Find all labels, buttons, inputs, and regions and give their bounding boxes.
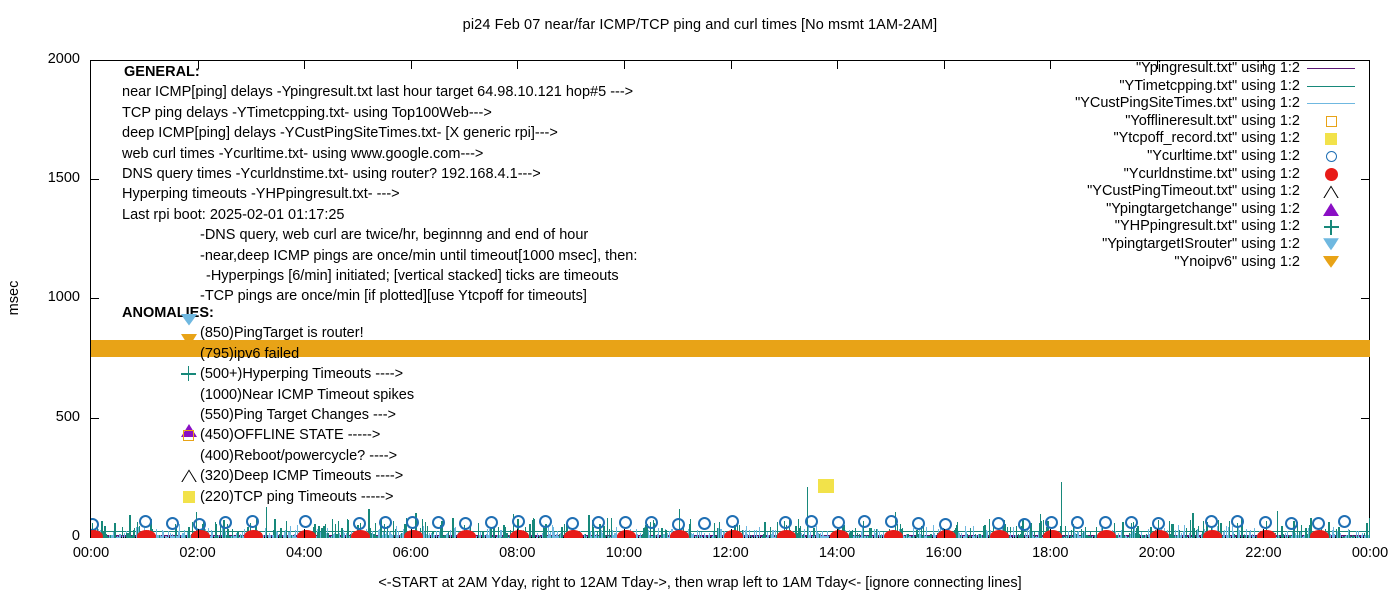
curldnstime-point [351, 530, 370, 538]
x-tick-mark-6-top [731, 60, 732, 69]
anomaly-row-1: (795)ipv6 failed [122, 344, 414, 364]
tcpping-tick [375, 523, 376, 538]
legend-row-11: "Ynoipv6" using 1:2 [960, 254, 1362, 272]
curltime-point [406, 516, 419, 529]
anomaly-row-6: (400)Reboot/powercycle? ----> [122, 446, 414, 466]
curldnstime-point [830, 530, 849, 538]
tcpping-tick [1137, 526, 1138, 538]
tcpping-spike-8 [807, 487, 808, 538]
tcpping-tick [534, 519, 535, 538]
curldnstime-point [617, 530, 636, 538]
square-open-orange-icon [1300, 116, 1362, 127]
anomaly-row-4: (550)Ping Target Changes ---> [122, 405, 414, 425]
curldnstime-point [670, 530, 689, 538]
plus-teal-icon [180, 365, 198, 383]
line-lightblue-icon [1300, 103, 1362, 104]
tcpping-tick [286, 521, 287, 538]
legend-row-5: "Ycurltime.txt" using 1:2 [960, 148, 1362, 166]
tcpping-tick [714, 523, 715, 538]
tcpping-tick [985, 525, 986, 538]
curltime-point [592, 516, 605, 529]
curltime-point [1071, 516, 1084, 529]
triangle-open-black-icon [1300, 185, 1362, 198]
tcpping-tick [764, 522, 765, 538]
page-title: pi24 Feb 07 near/far ICMP/TCP ping and c… [0, 17, 1400, 33]
x-tick-0000-0: 00:00 [51, 545, 131, 561]
curldnstime-point [777, 530, 796, 538]
anomaly-row-3: (1000)Near ICMP Timeout spikes [122, 385, 414, 405]
square-open-orange-icon [180, 427, 198, 445]
anomaly-label-4: (550)Ping Target Changes ---> [200, 407, 396, 423]
triangle-open-black-icon [180, 467, 198, 485]
curltime-point [193, 518, 206, 531]
tcpping-tick [335, 524, 336, 538]
tcpping-tick [593, 527, 594, 538]
curltime-point [1259, 516, 1272, 529]
tcpping-tick [1305, 528, 1306, 538]
curldnstime-point [137, 530, 156, 538]
general-line-0: near ICMP[ping] delays -Ypingresult.txt … [122, 82, 637, 102]
general-note-0: -DNS query, web curl are twice/hr, begin… [122, 225, 637, 245]
x-tick-2200-11: 22:00 [1223, 545, 1303, 561]
y-tick-0: 0 [16, 528, 80, 544]
x-axis-caption: <-START at 2AM Yday, right to 12AM Tday-… [0, 575, 1400, 591]
curltime-point [1338, 515, 1351, 528]
curldnstime-point [1097, 530, 1116, 538]
tcpping-tick [338, 521, 339, 538]
curltime-point [698, 517, 711, 530]
tcpping-tick [478, 523, 479, 538]
legend-label-4: "Ytcpoff_record.txt" using 1:2 [1113, 130, 1300, 148]
tcpping-tick [957, 522, 958, 538]
curltime-point [166, 517, 179, 530]
y-axis-tick-labels: 2000 1500 1000 500 0 [8, 60, 80, 538]
y-tick-500: 500 [16, 409, 80, 425]
tcpping-tick [1122, 522, 1123, 538]
x-tick-mark-11 [1263, 529, 1264, 538]
tcpping-spike-6 [588, 515, 589, 538]
curltime-point [485, 516, 498, 529]
curltime-point [645, 516, 658, 529]
tcpping-tick [661, 528, 662, 538]
tcpping-tick [603, 526, 604, 538]
anomalies-annotation-block: ANOMALIES: (850)PingTarget is router! (7… [122, 303, 414, 507]
tcpping-tick [1190, 520, 1191, 538]
x-tick-mark-10 [1157, 529, 1158, 538]
curltime-point [779, 516, 792, 529]
tcpping-tick [799, 528, 800, 538]
tcpping-tick [341, 528, 342, 538]
x-tick-mark-8 [944, 529, 945, 538]
tcpping-tick [1186, 528, 1187, 538]
circle-filled-red-icon [1300, 168, 1362, 181]
tcpping-tick [348, 520, 349, 538]
anomaly-row-5: (450)OFFLINE STATE -----> [122, 425, 414, 445]
tcpping-tick [719, 522, 720, 538]
curltime-point [1125, 516, 1138, 529]
curltime-point [379, 516, 392, 529]
x-tick-mark-6 [731, 529, 732, 538]
x-tick-0000-12: 00:00 [1330, 545, 1400, 561]
tcpping-tick [134, 528, 135, 538]
curldnstime-point [937, 530, 956, 538]
curltime-point [139, 515, 152, 528]
tcpping-tick [1173, 524, 1174, 538]
down-triangle-lightblue-icon [1300, 238, 1362, 251]
x-tick-mark-9 [1050, 529, 1051, 538]
curldnstime-point [244, 530, 263, 538]
legend-label-7: "YCustPingTimeout.txt" using 1:2 [1087, 183, 1300, 201]
tcpping-tick [1281, 526, 1282, 538]
legend-label-5: "Ycurltime.txt" using 1:2 [1147, 148, 1300, 166]
legend-label-10: "YpingtargetISrouter" using 1:2 [1102, 236, 1300, 254]
tcpping-tick [607, 518, 608, 538]
curldnstime-point [1310, 530, 1329, 538]
anomaly-row-8: (220)TCP ping Timeouts -----> [122, 487, 414, 507]
legend-row-10: "YpingtargetISrouter" using 1:2 [960, 236, 1362, 254]
anomaly-label-8: (220)TCP ping Timeouts -----> [200, 489, 394, 505]
tcpping-tick [690, 519, 691, 538]
curltime-point [1285, 517, 1298, 530]
tcpping-tick [1338, 527, 1339, 538]
tcpping-tick [493, 528, 494, 538]
curltime-point [1018, 518, 1031, 531]
tcpping-tick [104, 526, 105, 538]
x-tick-1200-6: 12:00 [691, 545, 771, 561]
line-teal-icon [1300, 86, 1362, 87]
down-triangle-orange-icon [1300, 256, 1362, 269]
anomaly-label-0: (850)PingTarget is router! [200, 325, 364, 341]
tcpping-tick [529, 524, 530, 538]
tcpping-tick [1369, 518, 1370, 538]
tcpping-tick [280, 528, 281, 538]
anomaly-row-0: (850)PingTarget is router! [122, 323, 414, 343]
legend-label-8: "Ypingtargetchange" using 1:2 [1106, 201, 1300, 219]
tcpping-tick [1065, 526, 1066, 538]
tcpping-spike-10 [1040, 514, 1041, 538]
tcpping-tick [611, 518, 612, 538]
y-tick-2000: 2000 [16, 51, 80, 67]
tcpping-spike-0 [129, 515, 130, 538]
tcpping-tick [1229, 521, 1230, 538]
general-note-2: -Hyperpings [6/min] initiated; [vertical… [122, 266, 637, 286]
x-tick-1800-9: 18:00 [1010, 545, 1090, 561]
x-tick-0200-1: 02:00 [158, 545, 238, 561]
tcpping-tick [332, 519, 333, 538]
tcpping-tick [393, 521, 394, 538]
curldnstime-point [564, 530, 583, 538]
x-tick-1400-7: 14:00 [797, 545, 877, 561]
square-yellow-icon [180, 488, 198, 506]
curltime-point [726, 515, 739, 528]
x-tick-mark-8-top [944, 60, 945, 69]
curltime-point [912, 517, 925, 530]
curldnstime-point [1203, 530, 1222, 538]
legend: "Ypingresult.txt" using 1:2"YTimetcpping… [960, 60, 1362, 271]
curldnstime-point [884, 530, 903, 538]
legend-row-9: "YHPpingresult.txt" using 1:2 [960, 218, 1362, 236]
curltime-point [353, 517, 366, 530]
legend-row-0: "Ypingresult.txt" using 1:2 [960, 60, 1362, 78]
general-line-5: Hyperping timeouts -YHPpingresult.txt- -… [122, 184, 637, 204]
x-tick-mark-3 [411, 529, 412, 538]
legend-label-1: "YTimetcpping.txt" using 1:2 [1119, 78, 1300, 96]
curldnstime-point [191, 530, 210, 538]
noise-tick [1362, 533, 1363, 538]
tcpping-tick [561, 527, 562, 538]
x-tick-mark-1 [198, 529, 199, 538]
legend-row-1: "YTimetcpping.txt" using 1:2 [960, 78, 1362, 96]
curltime-point [566, 517, 579, 530]
tcpping-spike-12 [1192, 513, 1193, 538]
y-tick-1500: 1500 [16, 170, 80, 186]
legend-label-2: "YCustPingSiteTimes.txt" using 1:2 [1075, 95, 1300, 113]
curltime-point [619, 516, 632, 529]
anomaly-label-3: (1000)Near ICMP Timeout spikes [200, 387, 414, 403]
x-tick-mark-2 [304, 529, 305, 538]
tcpping-tick [325, 525, 326, 538]
curltime-point [512, 515, 525, 528]
triangle-purple-icon [180, 406, 198, 424]
general-line-2: deep ICMP[ping] delays -YCustPingSiteTim… [122, 123, 637, 143]
curltime-point [1152, 517, 1165, 530]
x-tick-0800-4: 08:00 [477, 545, 557, 561]
curltime-point [299, 515, 312, 528]
y-tick-1000: 1000 [16, 289, 80, 305]
curldnstime-point [457, 530, 476, 538]
curldnstime-point [404, 530, 423, 538]
curltime-point [939, 518, 952, 531]
noise-tick [398, 536, 399, 538]
tcpping-tick [504, 527, 505, 538]
curltime-point [1045, 516, 1058, 529]
tcpping-tick [452, 518, 453, 538]
tcpping-tick [427, 526, 428, 538]
curltime-point [432, 516, 445, 529]
line-purple-icon [1300, 68, 1362, 69]
tcpping-tick [114, 523, 115, 538]
curltime-point [672, 518, 685, 531]
legend-label-9: "YHPpingresult.txt" using 1:2 [1115, 218, 1300, 236]
tcpping-tick [498, 527, 499, 538]
tcpping-tick [1366, 523, 1367, 538]
anomaly-label-1: (795)ipv6 failed [200, 346, 299, 362]
tcpping-tick [871, 528, 872, 538]
circle-open-blue-icon [1300, 151, 1362, 162]
legend-row-2: "YCustPingSiteTimes.txt" using 1:2 [960, 95, 1362, 113]
tcpping-tick [318, 526, 319, 538]
anomaly-label-7: (320)Deep ICMP Timeouts ----> [200, 468, 403, 484]
legend-row-7: "YCustPingTimeout.txt" using 1:2 [960, 183, 1362, 201]
x-tick-0600-3: 06:00 [371, 545, 451, 561]
x-tick-mark-4 [517, 529, 518, 538]
curldnstime-point [510, 530, 529, 538]
legend-label-0: "Ypingresult.txt" using 1:2 [1136, 60, 1300, 78]
legend-row-4: "Ytcpoff_record.txt" using 1:2 [960, 130, 1362, 148]
anomaly-label-6: (400)Reboot/powercycle? ----> [200, 448, 397, 464]
tcpping-tick [215, 524, 216, 538]
x-tick-0400-2: 04:00 [264, 545, 344, 561]
general-line-4: DNS query times -Ycurldnstime.txt- using… [122, 164, 637, 184]
tcpping-spike-13 [1277, 511, 1278, 538]
legend-row-8: "Ypingtargetchange" using 1:2 [960, 201, 1362, 219]
curldnstime-point [724, 530, 743, 538]
curldnstime-point [990, 530, 1009, 538]
triangle-purple-icon [1300, 203, 1362, 216]
general-annotation-block: GENERAL: near ICMP[ping] delays -Ypingre… [122, 62, 637, 307]
tcpping-tick [188, 527, 189, 538]
curltime-point [539, 515, 552, 528]
tcpping-tick [869, 528, 870, 538]
legend-row-6: "Ycurldnstime.txt" using 1:2 [960, 166, 1362, 184]
general-line-3: web curl times -Ycurltime.txt- using www… [122, 144, 637, 164]
general-line-6: Last rpi boot: 2025-02-01 01:17:25 [122, 205, 637, 225]
tcpping-tick [717, 528, 718, 538]
x-tick-mark-5 [624, 529, 625, 538]
curltime-point [1312, 517, 1325, 530]
curldnstime-point [297, 530, 316, 538]
tcpping-tick [274, 519, 275, 538]
curldnstime-point [1043, 530, 1062, 538]
anomaly-row-2: (500+)Hyperping Timeouts ----> [122, 364, 414, 384]
x-tick-mark-7 [837, 529, 838, 538]
anomaly-label-5: (450)OFFLINE STATE -----> [200, 427, 380, 443]
legend-label-6: "Ycurldnstime.txt" using 1:2 [1124, 166, 1300, 184]
curltime-point [459, 517, 472, 530]
general-header: GENERAL: [122, 62, 637, 82]
curltime-point [858, 515, 871, 528]
x-tick-2000-10: 20:00 [1117, 545, 1197, 561]
legend-label-11: "Ynoipv6" using 1:2 [1174, 254, 1300, 272]
curltime-point [219, 516, 232, 529]
x-tick-mark-7-top [837, 60, 838, 69]
tcpping-spike-11 [1061, 482, 1062, 538]
curldnstime-point [1150, 530, 1169, 538]
general-note-1: -near,deep ICMP pings are once/min until… [122, 246, 637, 266]
curltime-point [1099, 516, 1112, 529]
tcpping-tick [1301, 525, 1302, 538]
plus-teal-icon [1300, 220, 1362, 235]
anomalies-header: ANOMALIES: [122, 303, 414, 323]
down-triangle-orange-icon [180, 345, 198, 363]
tcpoff-record-point-0 [818, 479, 834, 493]
general-line-1: TCP ping delays -YTimetcpping.txt- using… [122, 103, 637, 123]
legend-row-3: "Yofflineresult.txt" using 1:2 [960, 113, 1362, 131]
curldnstime-point [1257, 530, 1276, 538]
x-tick-1000-5: 10:00 [584, 545, 664, 561]
tcpping-spike-2 [266, 507, 267, 538]
square-yellow-icon [1300, 133, 1362, 145]
anomaly-label-2: (500+)Hyperping Timeouts ----> [200, 366, 403, 382]
x-tick-1600-8: 16:00 [904, 545, 984, 561]
legend-label-3: "Yofflineresult.txt" using 1:2 [1125, 113, 1300, 131]
anomaly-row-7: (320)Deep ICMP Timeouts ----> [122, 466, 414, 486]
